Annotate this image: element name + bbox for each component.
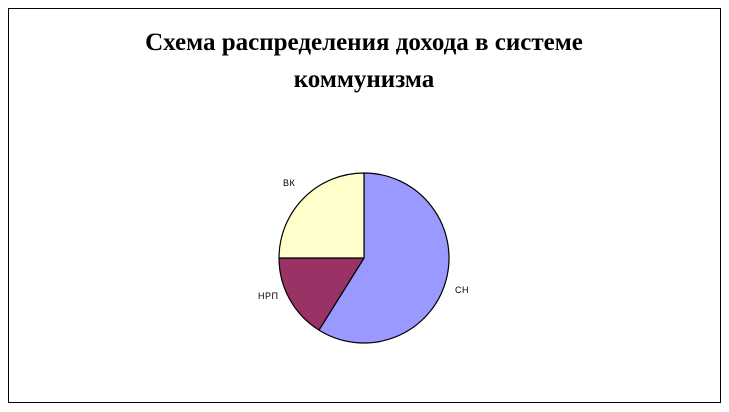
pie-chart-svg <box>278 172 450 344</box>
chart-title-line-2: коммунизма <box>64 61 664 98</box>
pie-label-vk: ВК <box>283 178 295 188</box>
chart-title-line-1: Схема распределения дохода в системе <box>64 24 664 61</box>
pie-label-nrp: НРП <box>258 291 278 301</box>
chart-canvas: Схема распределения дохода в системе ком… <box>0 0 729 412</box>
pie-label-sn: СН <box>455 285 469 295</box>
pie-chart <box>278 172 450 344</box>
chart-title: Схема распределения дохода в системе ком… <box>64 24 664 98</box>
